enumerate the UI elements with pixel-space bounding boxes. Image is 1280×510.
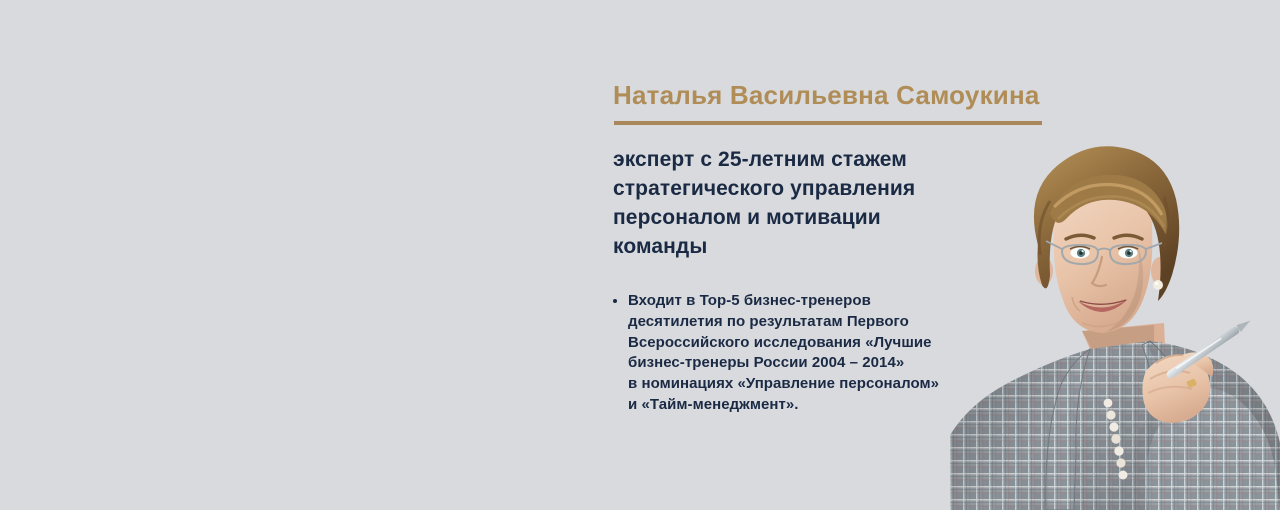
achievement-line: бизнес-тренеры России 2004 – 2014»	[628, 353, 1043, 374]
speaker-banner: Наталья Васильевна Самоукина эксперт с 2…	[0, 0, 1280, 510]
tagline-line: эксперт с 25-летним стажем	[613, 145, 943, 174]
achievement-line: Всероссийского исследования «Лучшие	[628, 333, 1043, 354]
achievement-line: в номинациях «Управление персоналом»	[628, 374, 1043, 395]
pearl-earring	[1153, 280, 1163, 290]
achievement-line: и «Тайм-менеджмент».	[628, 395, 1043, 416]
list-item: Входит в Top-5 бизнес-тренеров десятилет…	[613, 291, 1043, 416]
speaker-name: Наталья Васильевна Самоукина	[613, 78, 1043, 112]
speaker-tagline: эксперт с 25-летним стажем стратегическо…	[613, 145, 943, 261]
achievement-line: десятилетия по результатам Первого	[628, 312, 1043, 333]
achievement-line: Входит в Top-5 бизнес-тренеров	[628, 291, 1043, 312]
tagline-line: стратегического управления	[613, 174, 943, 203]
tagline-line: персоналом и мотивации	[613, 203, 943, 232]
speaker-text-column: Наталья Васильевна Самоукина эксперт с 2…	[613, 78, 1043, 416]
bullet-icon	[613, 299, 617, 303]
name-underline-rule	[614, 121, 1042, 125]
head	[1034, 146, 1179, 333]
achievements-list: Входит в Top-5 бизнес-тренеров десятилет…	[613, 291, 1043, 416]
tagline-line: команды	[613, 232, 943, 261]
